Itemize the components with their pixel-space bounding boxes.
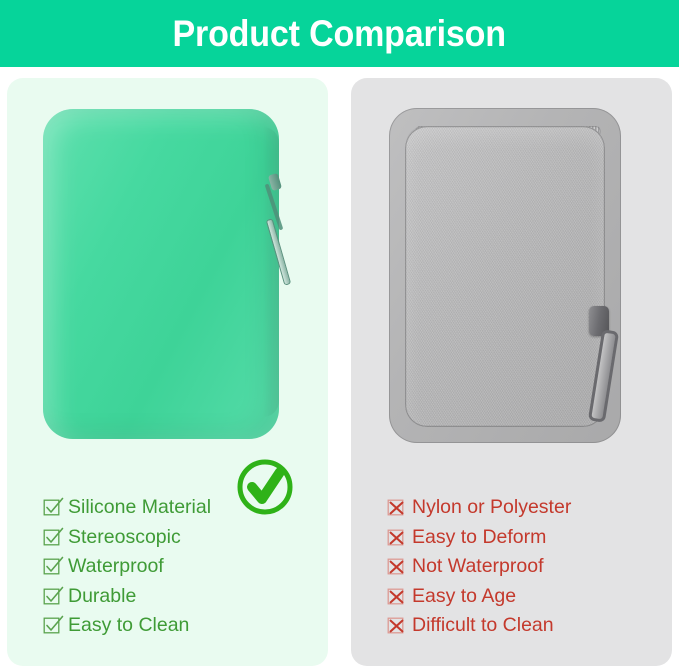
product-image-nylon-pouch — [351, 78, 672, 493]
comparison-area: Silicone Material Stereoscopic — [0, 67, 679, 671]
feature-label: Difficult to Clean — [412, 616, 554, 636]
list-item: Not Waterproof — [387, 552, 672, 582]
list-item: Easy to Deform — [387, 523, 672, 553]
crossed-box-icon — [387, 617, 404, 634]
checked-box-icon — [43, 588, 60, 605]
page-title: Product Comparison — [173, 13, 506, 55]
feature-list-bad: Nylon or Polyester Easy to Deform — [351, 493, 672, 641]
feature-label: Easy to Deform — [412, 528, 546, 548]
checked-box-icon — [43, 558, 60, 575]
nylon-pouch-body — [389, 108, 621, 443]
comparison-panel-bad: Nylon or Polyester Easy to Deform — [351, 78, 672, 666]
checked-box-icon — [43, 617, 60, 634]
crossed-box-icon — [387, 558, 404, 575]
feature-label: Durable — [68, 587, 136, 607]
checked-box-icon — [43, 529, 60, 546]
list-item: Difficult to Clean — [387, 611, 672, 641]
list-item: Easy to Clean — [43, 611, 328, 641]
silicone-case-body — [43, 109, 279, 439]
comparison-panel-good: Silicone Material Stereoscopic — [7, 78, 328, 666]
feature-label: Easy to Clean — [68, 616, 189, 636]
header-banner: Product Comparison — [0, 0, 679, 67]
feature-label: Not Waterproof — [412, 557, 544, 577]
list-item: Nylon or Polyester — [387, 493, 672, 523]
list-item: Durable — [43, 582, 328, 612]
feature-label: Stereoscopic — [68, 528, 181, 548]
crossed-box-icon — [387, 499, 404, 516]
list-item: Easy to Age — [387, 582, 672, 612]
feature-label: Silicone Material — [68, 498, 211, 518]
nylon-pouch-face — [405, 126, 605, 427]
checked-box-icon — [43, 499, 60, 516]
feature-label: Waterproof — [68, 557, 164, 577]
crossed-box-icon — [387, 588, 404, 605]
feature-list-good: Silicone Material Stereoscopic — [7, 493, 328, 641]
feature-label: Easy to Age — [412, 587, 516, 607]
list-item: Stereoscopic — [43, 523, 328, 553]
list-item: Waterproof — [43, 552, 328, 582]
crossed-box-icon — [387, 529, 404, 546]
feature-label: Nylon or Polyester — [412, 498, 571, 518]
list-item: Silicone Material — [43, 493, 328, 523]
product-image-silicone-case — [7, 78, 328, 493]
